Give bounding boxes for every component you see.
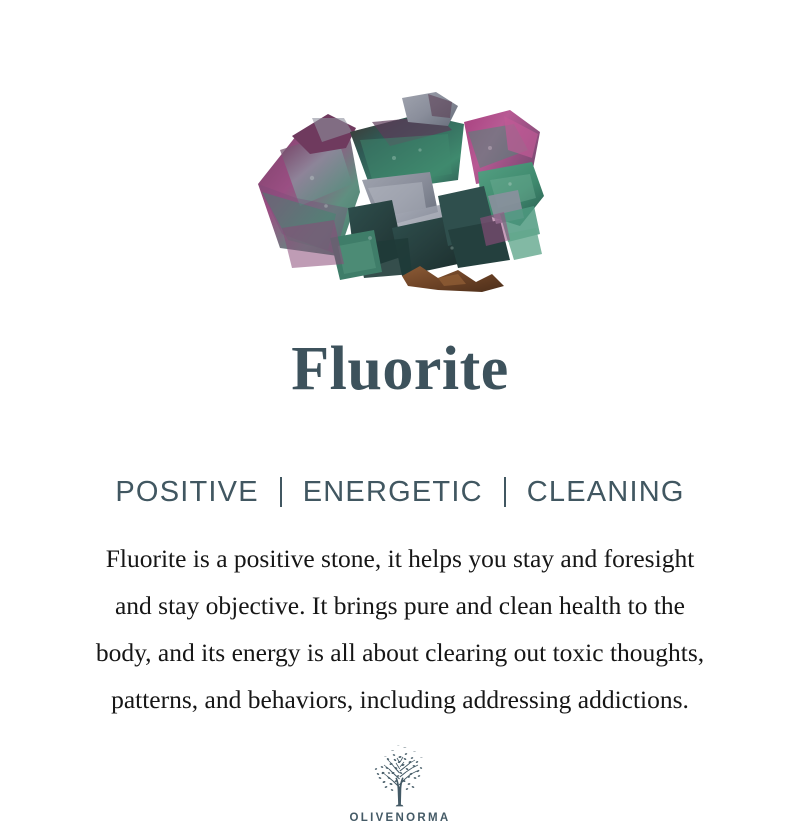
brand-logo: OLIVENORMA <box>350 743 451 824</box>
keyword-separator <box>280 477 282 507</box>
keyword-list: POSITIVE ENERGETIC CLEANING <box>115 476 684 509</box>
brand-wordmark: OLIVENORMA <box>350 812 451 824</box>
description-text: Fluorite is a positive stone, it helps y… <box>20 535 780 723</box>
page-title: Fluorite <box>291 338 509 400</box>
keyword-energetic: ENERGETIC <box>303 476 483 509</box>
keyword-cleaning: CLEANING <box>527 476 685 509</box>
tree-icon <box>363 743 437 809</box>
description-line: Fluorite is a positive stone, it helps y… <box>20 535 780 582</box>
specimen-image-area <box>0 0 800 310</box>
keyword-positive: POSITIVE <box>115 476 258 509</box>
product-info-card: Fluorite POSITIVE ENERGETIC CLEANING Flu… <box>0 0 800 800</box>
description-line: patterns, and behaviors, including addre… <box>20 676 780 723</box>
description-line: and stay objective. It brings pure and c… <box>20 582 780 629</box>
description-line: body, and its energy is all about cleari… <box>20 629 780 676</box>
fluorite-crystal-image <box>252 88 548 293</box>
keyword-separator <box>504 477 506 507</box>
